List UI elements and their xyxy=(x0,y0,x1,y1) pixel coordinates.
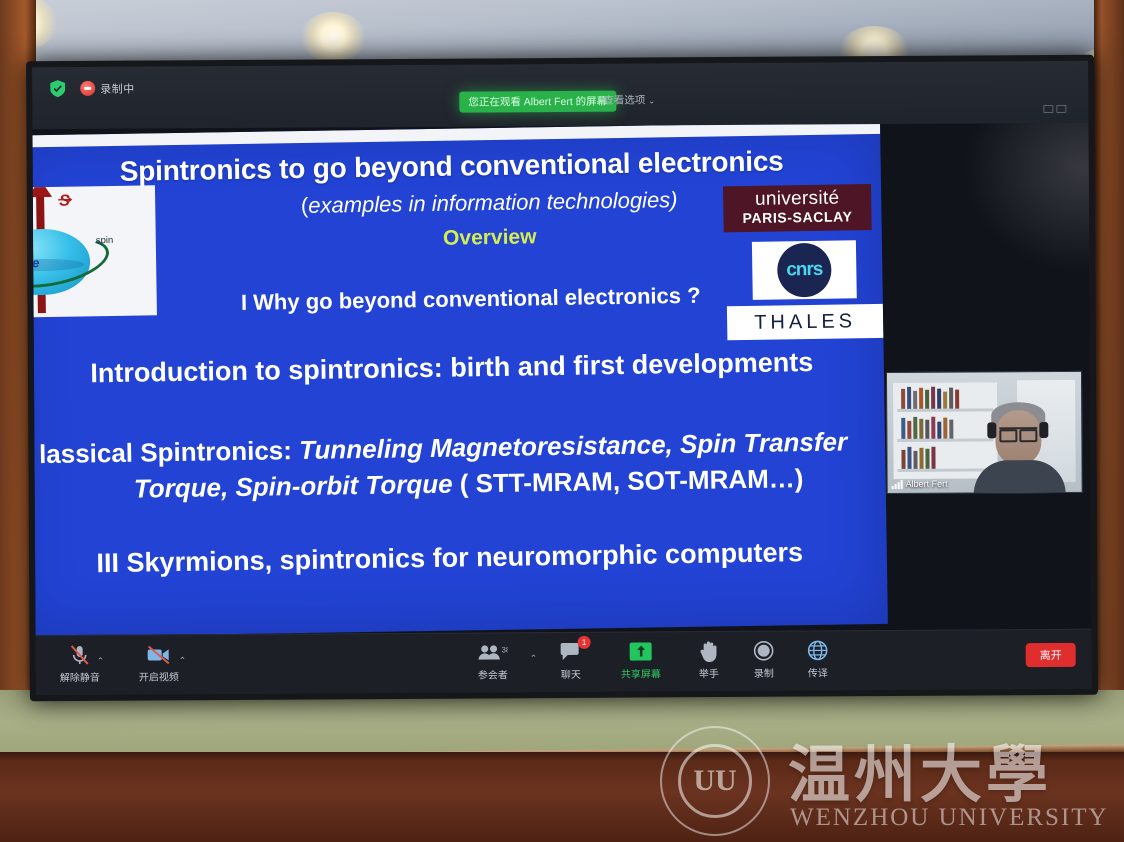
participant-video-tile[interactable]: Albert Fert xyxy=(886,371,1083,494)
ceiling-light xyxy=(300,12,366,62)
toolbar-mute-chevron-icon[interactable]: ⌃ xyxy=(97,656,105,667)
slide-title: Spintronics to go beyond conventional el… xyxy=(56,144,846,188)
toolbar-mute-label: 解除静音 xyxy=(60,669,100,684)
spin-text-label: spin xyxy=(96,235,114,246)
spin-diagram: S e spin rge xyxy=(32,185,156,317)
screen-share-banner: 您正在观看 Albert Fert 的屏幕 xyxy=(459,91,616,113)
view-options-label: 查看选项 xyxy=(603,94,645,106)
participant-name-text: Albert Fert xyxy=(906,479,948,489)
slide-section-1: I Why go beyond conventional electronics… xyxy=(151,281,791,317)
spin-vector-label: S xyxy=(59,193,70,211)
signal-bars-icon xyxy=(892,480,903,489)
slide-section-4: III Skyrmions, spintronics for neuromorp… xyxy=(32,536,885,581)
interpretation-globe-icon xyxy=(808,639,828,661)
slide-section-3-plain2: ( STT-MRAM, SOT-MRAM…) xyxy=(452,463,803,499)
toolbar-video-chevron-icon[interactable]: ⌃ xyxy=(179,655,187,666)
screen-glass: 录制中 您正在观看 Albert Fert 的屏幕 查看选项⌄ Spintron… xyxy=(32,61,1092,695)
window-controls[interactable] xyxy=(1043,105,1066,113)
toolbar-raise-hand-label: 举手 xyxy=(699,665,719,680)
universite-logo-line2: PARIS-SACLAY xyxy=(742,207,852,228)
recording-icon xyxy=(80,81,95,96)
universite-logo-line1: université xyxy=(755,188,840,208)
view-options-button[interactable]: 查看选项⌄ xyxy=(603,92,655,107)
presentation-slide: Spintronics to go beyond conventional el… xyxy=(32,123,887,635)
toolbar-chat-label: 聊天 xyxy=(561,666,581,681)
toolbar-share-screen-label: 共享屏幕 xyxy=(621,665,661,680)
zoom-meeting-window: 录制中 您正在观看 Albert Fert 的屏幕 查看选项⌄ Spintron… xyxy=(32,61,1092,695)
thales-logo: THALES xyxy=(727,304,884,340)
participants-icon: 38 xyxy=(478,641,508,663)
chevron-down-icon: ⌄ xyxy=(648,96,655,105)
chat-unread-badge: 1 xyxy=(578,636,591,649)
chat-icon: 1 xyxy=(560,641,582,663)
video-off-icon xyxy=(147,643,171,665)
slide-section-2: Introduction to spintronics: birth and f… xyxy=(32,346,882,391)
toolbar-video-button[interactable]: 开启视频 xyxy=(139,643,179,683)
toolbar-chat-button[interactable]: 1 聊天 xyxy=(560,641,582,681)
toolbar-interpretation-label: 传译 xyxy=(808,664,828,679)
share-screen-icon xyxy=(630,640,652,662)
display-screen: 录制中 您正在观看 Albert Fert 的屏幕 查看选项⌄ Spintron… xyxy=(26,55,1098,702)
zoom-top-bar: 录制中 您正在观看 Albert Fert 的屏幕 查看选项⌄ xyxy=(32,61,1088,129)
toolbar-participants-chevron-icon[interactable]: ⌃ xyxy=(530,653,538,664)
toolbar-record-button[interactable]: 录制 xyxy=(754,640,774,680)
microphone-muted-icon xyxy=(70,644,90,666)
slide-section-3-line2: Torque, Spin-orbit Torque ( STT-MRAM, SO… xyxy=(73,462,863,505)
maximize-icon[interactable] xyxy=(1056,105,1066,113)
zoom-toolbar: 解除静音 ⌃ 开启视频 ⌃ 38 参会者 xyxy=(36,629,1092,695)
leave-meeting-button[interactable]: 离开 xyxy=(1026,643,1076,667)
conference-room-photo: 录制中 您正在观看 Albert Fert 的屏幕 查看选项⌄ Spintron… xyxy=(0,0,1124,842)
record-icon xyxy=(754,640,774,662)
toolbar-interpretation-button[interactable]: 传译 xyxy=(808,639,828,679)
bookshelf xyxy=(893,382,998,479)
toolbar-raise-hand-button[interactable]: 举手 xyxy=(699,640,719,680)
slide-section-3-italic: Tunneling Magnetoresistance, Spin Transf… xyxy=(299,426,847,465)
toolbar-participants-button[interactable]: 38 参会者 xyxy=(478,641,508,681)
toolbar-video-label: 开启视频 xyxy=(139,668,179,683)
shield-icon xyxy=(50,80,65,97)
toolbar-participants-label: 参会者 xyxy=(478,666,508,681)
toolbar-record-label: 录制 xyxy=(754,665,774,680)
shared-screen-area: Spintronics to go beyond conventional el… xyxy=(32,123,1091,635)
minimize-icon[interactable] xyxy=(1043,105,1053,113)
headset-right xyxy=(1039,422,1048,438)
participant-name-label: Albert Fert xyxy=(892,479,948,489)
svg-text:38: 38 xyxy=(501,645,507,654)
raise-hand-icon xyxy=(700,640,718,662)
universite-paris-saclay-logo: université PARIS-SACLAY xyxy=(723,184,872,232)
slide-subtitle-italic: examples in information technologies) xyxy=(308,187,678,218)
glasses-icon xyxy=(999,427,1037,436)
wood-panel xyxy=(0,752,1124,842)
slide-section-3-plain: lassical Spintronics: xyxy=(39,435,300,469)
toolbar-mute-button[interactable]: 解除静音 xyxy=(60,644,100,684)
toolbar-share-screen-button[interactable]: 共享屏幕 xyxy=(621,640,661,680)
headset-left xyxy=(987,422,996,438)
slide-section-3-italic2: Torque, Spin-orbit Torque xyxy=(134,469,453,504)
recording-label: 录制中 xyxy=(100,81,135,97)
